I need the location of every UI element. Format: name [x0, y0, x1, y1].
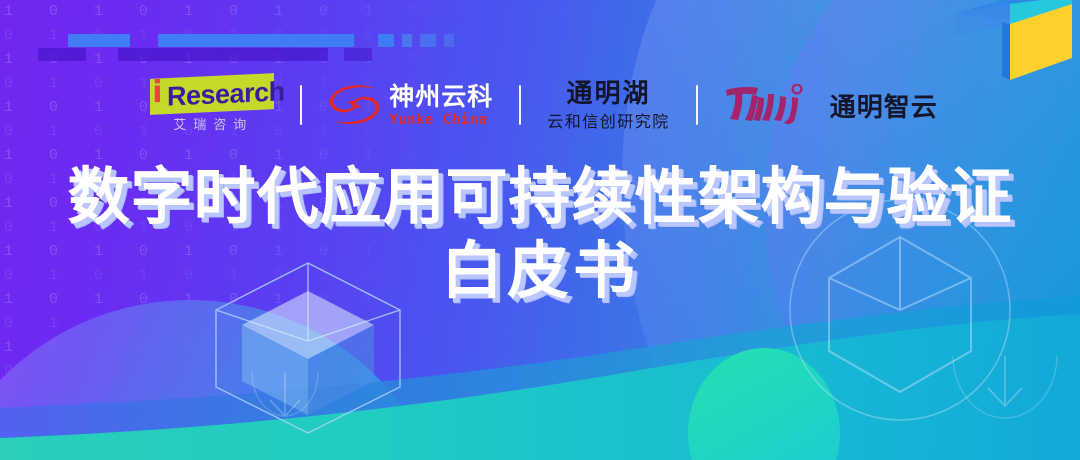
down-arrow-motif-left-icon	[250, 372, 320, 442]
accent-bar-5	[420, 34, 436, 47]
yunke-chinese-name: 神州云科	[389, 84, 493, 109]
logo-divider-1	[300, 85, 302, 125]
accent-bar-6	[444, 34, 454, 47]
logo-iresearch[interactable]: i Research 艾瑞咨询	[142, 72, 274, 138]
accent-bar-dark-2	[118, 48, 328, 61]
title-block: 数字时代应用可持续性架构与验证 白皮书	[0, 160, 1080, 308]
logo-divider-3	[696, 85, 698, 125]
whitepaper-cover: 1 0 1 0 1 0 1 0 1 0 1 0 1 0 1 0 1 0 1 00…	[0, 0, 1080, 460]
logo-tongminghu[interactable]: 通明湖 云和信创研究院	[547, 72, 670, 138]
tmi-chinese-name: 通明智云	[830, 87, 938, 124]
accent-bar-dark-3	[344, 48, 372, 61]
title-line-2: 白皮书	[0, 234, 1080, 308]
logo-yunke-china[interactable]: 神州云科 Yunke China	[328, 72, 493, 138]
yunke-english-name: Yunke China	[389, 113, 493, 127]
title-line-1: 数字时代应用可持续性架构与验证	[0, 160, 1080, 234]
binary-row: 1 0 1 0 1 0 1 0 1 0 1 0 1 0 1 0 1 0 1 0	[0, 0, 620, 24]
logo-tmi[interactable]: 通明智云	[724, 72, 938, 138]
tongminghu-name: 通明湖	[566, 81, 650, 107]
yellow-box-3d-icon	[954, 0, 1072, 82]
accent-bar-2	[158, 34, 354, 47]
logo-divider-2	[519, 85, 521, 125]
down-arrow-motif-right-icon	[950, 356, 1060, 460]
iresearch-chinese-name: 艾瑞咨询	[151, 114, 275, 133]
tongminghu-institute-name: 云和信创研究院	[547, 114, 670, 130]
accent-bar-3	[378, 34, 394, 47]
iresearch-wordmark: Research	[167, 74, 285, 113]
accent-bar-4	[402, 34, 412, 47]
tmi-brush-wordmark-icon	[724, 84, 820, 126]
accent-bar-1	[68, 34, 130, 47]
iresearch-i-letter: i	[152, 76, 161, 110]
yunke-swirl-icon	[328, 83, 380, 127]
accent-bar-dark-1	[38, 48, 86, 61]
partner-logo-row: i Research 艾瑞咨询 神州云科 Yunke China	[0, 72, 1080, 138]
